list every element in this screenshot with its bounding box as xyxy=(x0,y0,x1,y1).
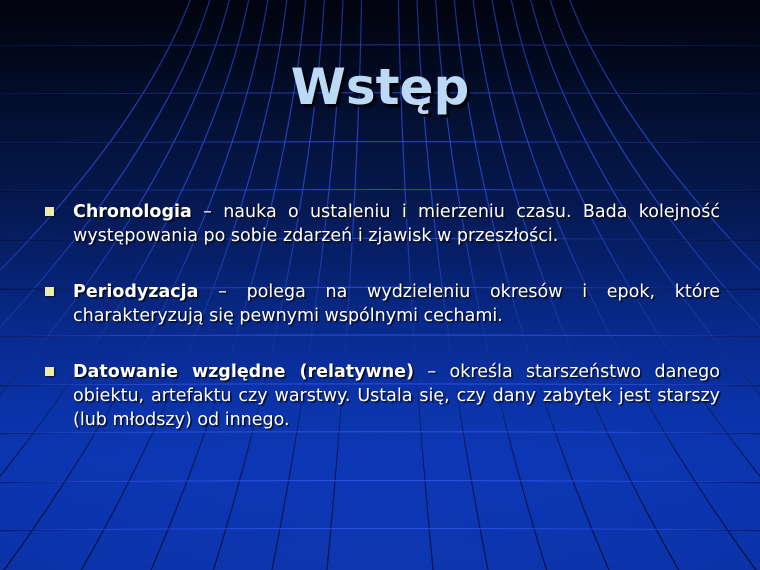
square-bullet-icon xyxy=(45,367,54,376)
presentation-slide: Wstęp Chronologia – nauka o ustaleniu i … xyxy=(0,0,760,570)
square-bullet-icon xyxy=(45,207,54,216)
bullet-item-datowanie-wzgledne: Datowanie względne (relatywne) – określa… xyxy=(40,360,720,432)
bullet-term: Chronologia xyxy=(73,202,192,222)
bullet-item-periodyzacja: Periodyzacja – polega na wydzieleniu okr… xyxy=(40,280,720,328)
slide-title: Wstęp xyxy=(0,58,760,116)
slide-body-bullet-list: Chronologia – nauka o ustaleniu i mierze… xyxy=(40,182,720,432)
slide-content: Wstęp Chronologia – nauka o ustaleniu i … xyxy=(0,0,760,570)
square-bullet-icon xyxy=(45,287,54,296)
bullet-term: Datowanie względne (relatywne) xyxy=(73,362,414,382)
bullet-item-chronologia: Chronologia – nauka o ustaleniu i mierze… xyxy=(40,200,720,248)
bullet-term: Periodyzacja xyxy=(73,282,198,302)
